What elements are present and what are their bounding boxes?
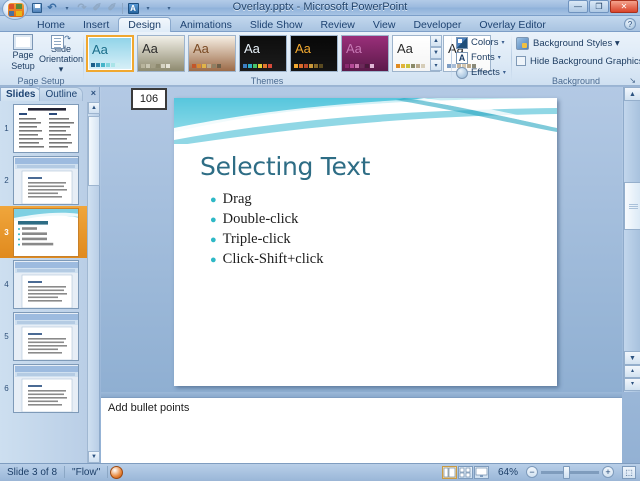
chevron-down-icon: ▾ <box>501 39 504 46</box>
slides-panel-tabs: SlidesOutline <box>0 87 100 101</box>
slide-thumbnail-item[interactable]: 1 <box>0 102 88 154</box>
theme-civic[interactable]: Aa <box>239 35 287 72</box>
themes-gallery-scroll: ▲ ▼ ▾ <box>430 35 442 71</box>
ribbon-tab-label: View <box>373 19 396 31</box>
slides-panel-scrollbar[interactable]: ▲ ▼ <box>87 102 99 463</box>
theme-effects-button[interactable]: Effects ▾ <box>456 65 506 80</box>
theme-preview-glyph: Aa <box>346 42 362 55</box>
slides-scroll-up-button[interactable]: ▲ <box>88 102 100 114</box>
spell-check-icon[interactable] <box>110 466 123 479</box>
themes-more-button[interactable]: ▾ <box>430 59 442 71</box>
ribbon-tab-view[interactable]: View <box>364 17 405 32</box>
slide-vertical-scrollbar[interactable]: ▲ ▼ ▴ ▾ <box>623 87 640 392</box>
background-styles-label: Background Styles ▾ <box>533 38 620 49</box>
divider <box>107 466 108 478</box>
ribbon-tab-home[interactable]: Home <box>28 17 74 32</box>
flow-theme-banner <box>174 98 557 150</box>
theme-flow[interactable]: Aa <box>86 35 134 72</box>
slide-bullet[interactable]: ●Drag <box>210 191 323 211</box>
view-buttons <box>442 466 494 479</box>
slide-number: 1 <box>0 124 13 133</box>
bullet-dot-icon: ● <box>210 215 217 226</box>
title-bar: ↶ ▾ ↷ ✐ ✐ A ▾ ▾ Overlay.pptx - Microsoft… <box>0 0 640 16</box>
theme-swatches <box>141 64 170 68</box>
theme-preview-glyph: Aa <box>295 42 311 55</box>
effects-icon <box>456 67 468 79</box>
theme-colors-label: Colors <box>471 37 498 48</box>
theme-effects-label: Effects <box>471 67 500 78</box>
close-panel-icon[interactable]: × <box>91 88 96 98</box>
hide-background-graphics-label: Hide Background Graphics <box>530 56 640 67</box>
ribbon-tab-slide-show[interactable]: Slide Show <box>241 17 312 32</box>
slide-title[interactable]: Selecting Text <box>200 152 370 181</box>
ribbon-tab-overlay-editor[interactable]: Overlay Editor <box>470 17 555 32</box>
close-button[interactable]: ✕ <box>610 0 638 13</box>
zoom-slider[interactable]: − + <box>522 466 618 478</box>
bullet-text: Double-click <box>223 211 299 228</box>
bullet-text: Triple-click <box>223 231 291 248</box>
slide-thumbnail-item[interactable]: 3 <box>0 206 88 258</box>
group-themes: AaAaAaAaAaAaAaAa ▲ ▼ ▾ Themes <box>84 32 450 86</box>
theme-colors-button[interactable]: Colors ▾ <box>456 35 504 50</box>
theme-swatches <box>345 64 374 68</box>
maximize-button[interactable]: ❐ <box>589 0 609 13</box>
page-setup-label-2: Setup <box>11 62 35 72</box>
notes-pane[interactable]: Add bullet points <box>101 397 622 463</box>
ribbon-tab-label: Design <box>128 19 161 31</box>
group-background: Background Styles ▾ Hide Background Grap… <box>512 32 640 86</box>
theme-preview-glyph: Aa <box>193 42 209 55</box>
zoom-handle[interactable] <box>563 466 570 479</box>
slide-orientation-icon: ↷ <box>51 34 71 44</box>
scroll-down-button[interactable]: ▼ <box>624 351 640 365</box>
theme-preview-glyph: Aa <box>142 42 158 55</box>
theme-name: "Flow" <box>65 467 107 478</box>
ribbon-tab-label: Slide Show <box>250 19 303 31</box>
slide-number: 3 <box>0 228 13 237</box>
slide-thumbnail-preview[interactable] <box>13 260 79 309</box>
theme-swatches <box>396 64 425 68</box>
slide-sorter-icon[interactable] <box>458 466 473 479</box>
panel-tab-label: Outline <box>45 89 77 100</box>
bullet-text: Click-Shift+click <box>223 251 324 268</box>
theme-fonts-button[interactable]: A Fonts ▾ <box>456 50 501 65</box>
zoom-out-button[interactable]: − <box>526 466 538 478</box>
hide-background-graphics-checkbox[interactable]: Hide Background Graphics <box>516 54 640 68</box>
zoom-level[interactable]: 64% <box>494 467 522 478</box>
slide-number: 5 <box>0 332 13 341</box>
slide-bullet[interactable]: ●Click-Shift+click <box>210 251 323 271</box>
theme-preview-glyph: Aa <box>244 42 260 55</box>
slides-scroll-thumb[interactable] <box>88 116 100 186</box>
banner-swoosh-graphic <box>174 98 557 150</box>
slide-thumbnail-item[interactable]: 2 <box>0 154 88 206</box>
checkbox-icon[interactable] <box>516 56 526 66</box>
background-dialog-launcher[interactable]: ↘ <box>629 76 636 85</box>
page-setup-label-1: Page <box>12 51 33 61</box>
overlay-badge: 106 <box>131 88 167 110</box>
fit-slide-to-window-button[interactable]: ⬚ <box>622 466 636 479</box>
chevron-down-icon: ▾ <box>503 69 506 76</box>
background-styles-icon <box>516 37 529 50</box>
theme-swatches <box>91 63 120 67</box>
slide-thumbnail-item[interactable]: 4 <box>0 258 88 310</box>
ribbon-tab-label: Developer <box>413 19 461 31</box>
slide-orientation-label-2: Orientation ▾ <box>39 55 83 74</box>
ribbon-design-tab-content: Page Setup ↷ Slide Orientation ▾ Page Se… <box>0 32 640 86</box>
zoom-track[interactable] <box>541 471 599 474</box>
slide-body-bullets[interactable]: ●Drag●Double-click●Triple-click●Click-Sh… <box>210 191 323 271</box>
slide-indicator: Slide 3 of 8 <box>0 467 64 478</box>
group-theme-parts: Colors ▾ A Fonts ▾ Effects ▾ <box>452 32 510 86</box>
slide-thumbnail-preview[interactable] <box>13 208 79 257</box>
panel-tab-slides[interactable]: Slides <box>0 87 41 101</box>
ribbon-tab-label: Animations <box>180 19 232 31</box>
theme-fonts-label: Fonts <box>471 52 495 63</box>
ribbon-tab-review[interactable]: Review <box>311 17 363 32</box>
status-bar: Slide 3 of 8 "Flow" <box>0 463 640 480</box>
slides-scroll-down-button[interactable]: ▼ <box>88 451 100 463</box>
colors-icon <box>456 37 468 49</box>
slides-panel: SlidesOutline × 123456 ▲ ▼ <box>0 87 100 463</box>
slide-number: 6 <box>0 384 13 393</box>
slide-number: 4 <box>0 280 13 289</box>
bullet-dot-icon: ● <box>210 195 217 206</box>
ribbon-tab-animations[interactable]: Animations <box>171 17 241 32</box>
zoom-in-button[interactable]: + <box>602 466 614 478</box>
theme-preview-glyph: Aa <box>92 43 108 56</box>
slide-thumbnail-item[interactable]: 5 <box>0 310 88 362</box>
slide-bullet[interactable]: ●Triple-click <box>210 231 323 251</box>
normal-view-icon[interactable] <box>442 466 457 479</box>
slide-thumbnail-preview[interactable] <box>13 312 79 361</box>
theme-concourse[interactable]: Aa <box>290 35 338 72</box>
group-page-setup: Page Setup ↷ Slide Orientation ▾ Page Se… <box>0 32 82 86</box>
chevron-down-icon: ▾ <box>498 54 501 61</box>
panel-tab-label: Slides <box>6 89 35 100</box>
powerpoint-window: ↶ ▾ ↷ ✐ ✐ A ▾ ▾ Overlay.pptx - Microsoft… <box>0 0 640 480</box>
theme-aspect[interactable]: Aa <box>188 35 236 72</box>
slide-thumbnail-list[interactable]: 123456 <box>0 102 88 463</box>
previous-slide-button[interactable]: ▴ <box>624 365 640 378</box>
page-setup-icon <box>13 34 33 50</box>
scroll-thumb[interactable] <box>624 182 640 230</box>
bullet-text: Drag <box>223 191 252 208</box>
next-slide-button[interactable]: ▾ <box>624 378 640 391</box>
slide-show-icon[interactable] <box>474 466 489 479</box>
ribbon-tab-strip: HomeInsertDesignAnimationsSlide ShowRevi… <box>0 16 640 32</box>
theme-preview-glyph: Aa <box>397 42 413 55</box>
theme-equity[interactable]: Aa <box>341 35 389 72</box>
theme-swatches <box>243 64 272 68</box>
notes-text[interactable]: Add bullet points <box>108 402 189 414</box>
ribbon-tab-developer[interactable]: Developer <box>404 17 470 32</box>
theme-apex[interactable]: Aa <box>137 35 185 72</box>
slide-thumbnail-preview[interactable] <box>13 104 79 153</box>
themes-scroll-down-button[interactable]: ▼ <box>430 47 442 59</box>
window-controls: — ❐ ✕ <box>568 0 638 13</box>
slide-thumbnail-preview[interactable] <box>13 364 79 413</box>
scroll-up-button[interactable]: ▲ <box>624 87 640 101</box>
fonts-icon: A <box>456 52 468 64</box>
page-setup-button[interactable]: Page Setup <box>4 34 42 74</box>
panel-tab-outline[interactable]: Outline <box>39 87 83 101</box>
slide-editing-area[interactable]: 106 <box>101 87 622 392</box>
slide-number: 2 <box>0 176 13 185</box>
ribbon-tab-design[interactable]: Design <box>118 17 171 32</box>
slide-canvas[interactable]: Selecting Text ●Drag●Double-click●Triple… <box>174 98 557 386</box>
slide-thumbnail-preview[interactable] <box>13 156 79 205</box>
group-label-themes: Themes <box>84 76 450 86</box>
ribbon-tab-label: Review <box>320 19 354 31</box>
background-styles-button[interactable]: Background Styles ▾ <box>516 36 620 50</box>
office-logo-icon <box>8 3 24 17</box>
slide-thumbnail-item[interactable]: 6 <box>0 362 88 414</box>
ribbon-tabs: HomeInsertDesignAnimationsSlide ShowRevi… <box>28 16 555 32</box>
bullet-dot-icon: ● <box>210 235 217 246</box>
theme-swatches <box>192 64 221 68</box>
ribbon-tab-label: Home <box>37 19 65 31</box>
themes-scroll-up-button[interactable]: ▲ <box>430 35 442 47</box>
slide-bullet[interactable]: ●Double-click <box>210 211 323 231</box>
help-icon[interactable]: ? <box>624 18 636 30</box>
minimize-button[interactable]: — <box>568 0 588 13</box>
workspace: SlidesOutline × 123456 ▲ ▼ 106 <box>0 87 640 463</box>
ribbon-tab-label: Insert <box>83 19 109 31</box>
group-label-page-setup: Page Setup <box>0 76 82 86</box>
theme-swatches <box>294 64 323 68</box>
ribbon-tab-insert[interactable]: Insert <box>74 17 118 32</box>
window-title: Overlay.pptx - Microsoft PowerPoint <box>0 1 640 13</box>
bullet-dot-icon: ● <box>210 255 217 266</box>
slide-orientation-button[interactable]: ↷ Slide Orientation ▾ <box>40 34 82 74</box>
group-label-background: Background <box>512 76 640 86</box>
ribbon-tab-label: Overlay Editor <box>479 19 546 31</box>
